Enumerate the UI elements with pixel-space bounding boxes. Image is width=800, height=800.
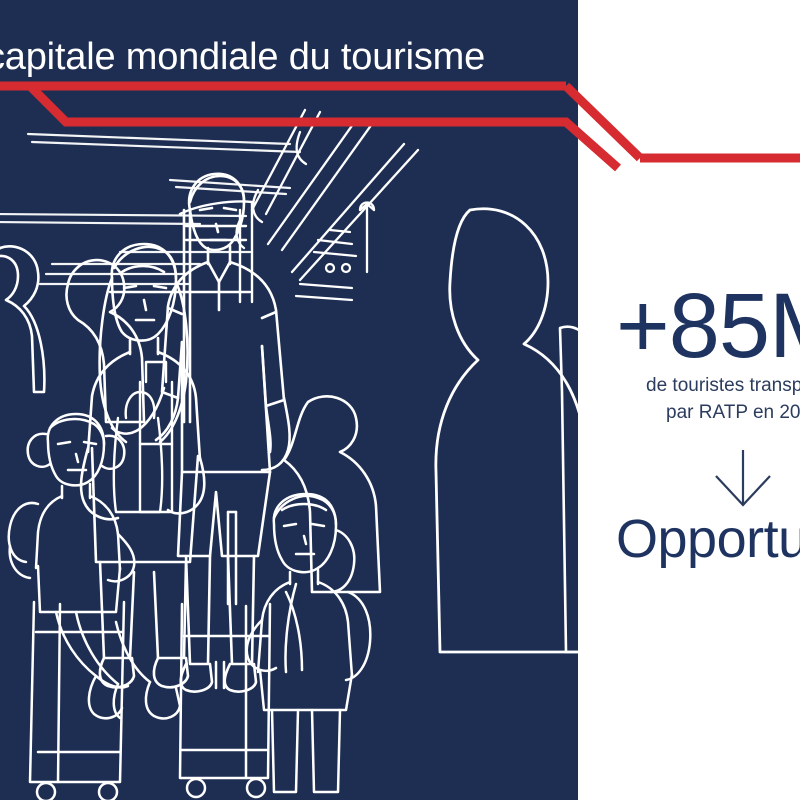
page-title: capitale mondiale du tourisme <box>0 34 578 80</box>
arrow-down-icon <box>708 448 778 510</box>
stat-caption-line-1: de touristes transportés <box>646 375 800 396</box>
stat-caption-line-2: par RATP en 2023 <box>646 399 800 426</box>
metro-family-illustration <box>0 92 578 800</box>
stat-caption: de touristes transportés par RATP en 202… <box>646 372 800 426</box>
stat-column: +85M de touristes transportés par RATP e… <box>578 0 800 800</box>
stat-number: +85M <box>616 278 800 374</box>
navy-background-panel: capitale mondiale du tourisme <box>0 0 578 800</box>
conclusion-text: Opportunité <box>616 506 800 572</box>
poster-canvas: capitale mondiale du tourisme +85M de to… <box>0 0 800 800</box>
